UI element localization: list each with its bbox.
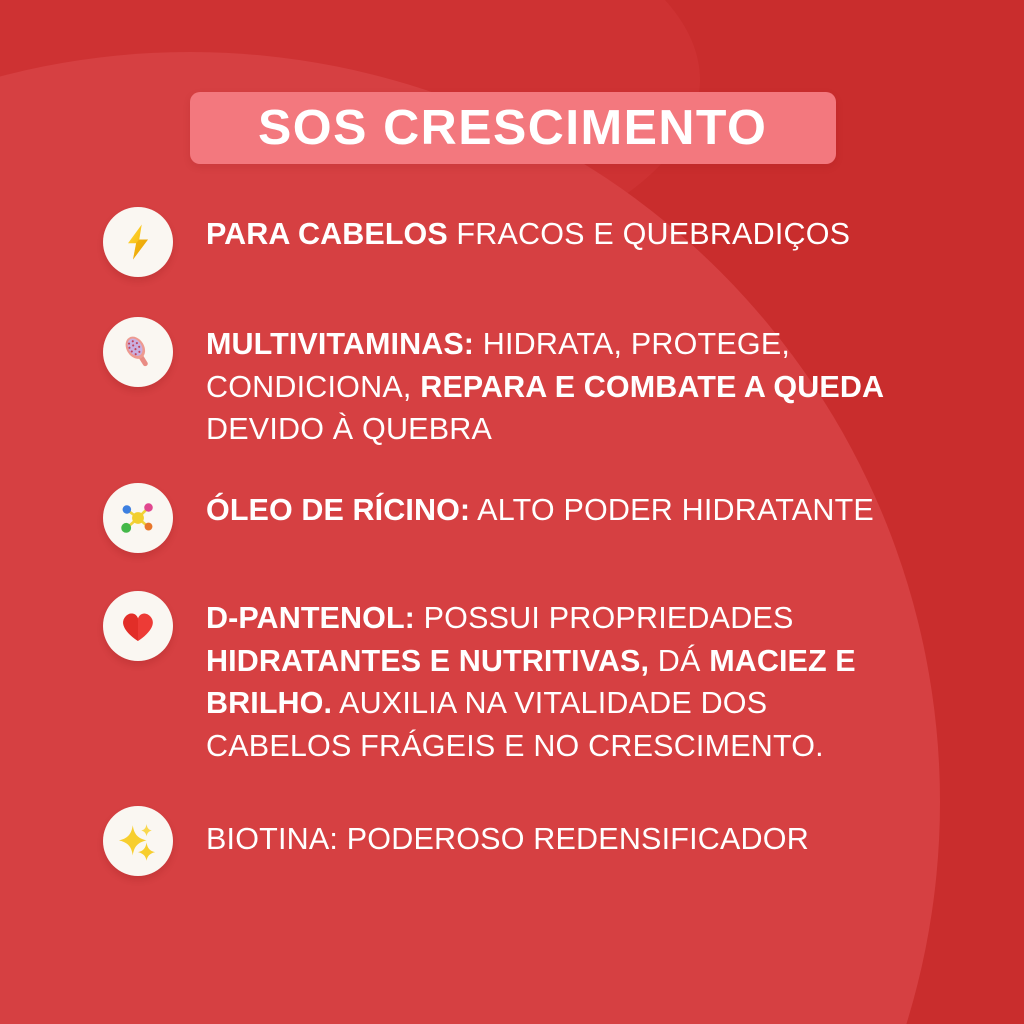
icon-badge — [103, 317, 173, 387]
feature-text-regular: POSSUI PROPRIEDADES — [415, 601, 794, 635]
icon-badge — [103, 207, 173, 277]
feature-text-emphasis: PARA CABELOS — [206, 217, 456, 251]
icon-badge — [103, 483, 173, 553]
feature-text-emphasis: D-PANTENOL: — [206, 601, 415, 635]
feature-text-regular: FRACOS E QUEBRADIÇOS — [456, 217, 850, 251]
feature-text-emphasis: ÓLEO DE RÍCINO: — [206, 493, 470, 527]
feature-text-emphasis: REPARA E COMBATE A QUEDA — [420, 370, 884, 404]
feature-text: BIOTINA: PODEROSO REDENSIFICADOR — [206, 798, 809, 861]
red-heart-icon — [118, 606, 158, 646]
feature-item: MULTIVITAMINAS: HIDRATA, PROTEGE, CONDIC… — [0, 315, 1024, 451]
page-title: SOS CRESCIMENTO — [258, 104, 767, 153]
feature-text: D-PANTENOL: POSSUI PROPRIEDADES HIDRATAN… — [206, 589, 906, 768]
sparkles-icon — [117, 820, 159, 862]
feature-item: D-PANTENOL: POSSUI PROPRIEDADES HIDRATAN… — [0, 589, 1024, 768]
feature-text-regular: BIOTINA: PODEROSO REDENSIFICADOR — [206, 822, 809, 856]
molecule-icon — [117, 497, 159, 539]
high-voltage-lightning-icon — [118, 222, 158, 262]
feature-text-regular: ALTO PODER HIDRATANTE — [470, 493, 874, 527]
feature-item: PARA CABELOS FRACOS E QUEBRADIÇOS — [0, 205, 1024, 277]
feature-list: PARA CABELOS FRACOS E QUEBRADIÇOS MULTIV… — [0, 205, 1024, 876]
feature-text-regular: DEVIDO À QUEBRA — [206, 412, 492, 446]
hairbrush-icon — [118, 332, 158, 372]
feature-item: BIOTINA: PODEROSO REDENSIFICADOR — [0, 798, 1024, 876]
feature-text-regular: DÁ — [649, 644, 709, 678]
promo-poster: SOS CRESCIMENTO PARA CABELOS FRACOS E QU… — [0, 0, 1024, 1024]
feature-text: MULTIVITAMINAS: HIDRATA, PROTEGE, CONDIC… — [206, 315, 906, 451]
feature-text-emphasis: MULTIVITAMINAS: — [206, 327, 474, 361]
icon-badge — [103, 806, 173, 876]
title-banner: SOS CRESCIMENTO — [190, 92, 836, 164]
feature-text: ÓLEO DE RÍCINO: ALTO PODER HIDRATANTE — [206, 481, 874, 532]
feature-text-emphasis: HIDRATANTES E NUTRITIVAS, — [206, 644, 649, 678]
icon-badge — [103, 591, 173, 661]
feature-text: PARA CABELOS FRACOS E QUEBRADIÇOS — [206, 205, 850, 256]
feature-item: ÓLEO DE RÍCINO: ALTO PODER HIDRATANTE — [0, 481, 1024, 553]
